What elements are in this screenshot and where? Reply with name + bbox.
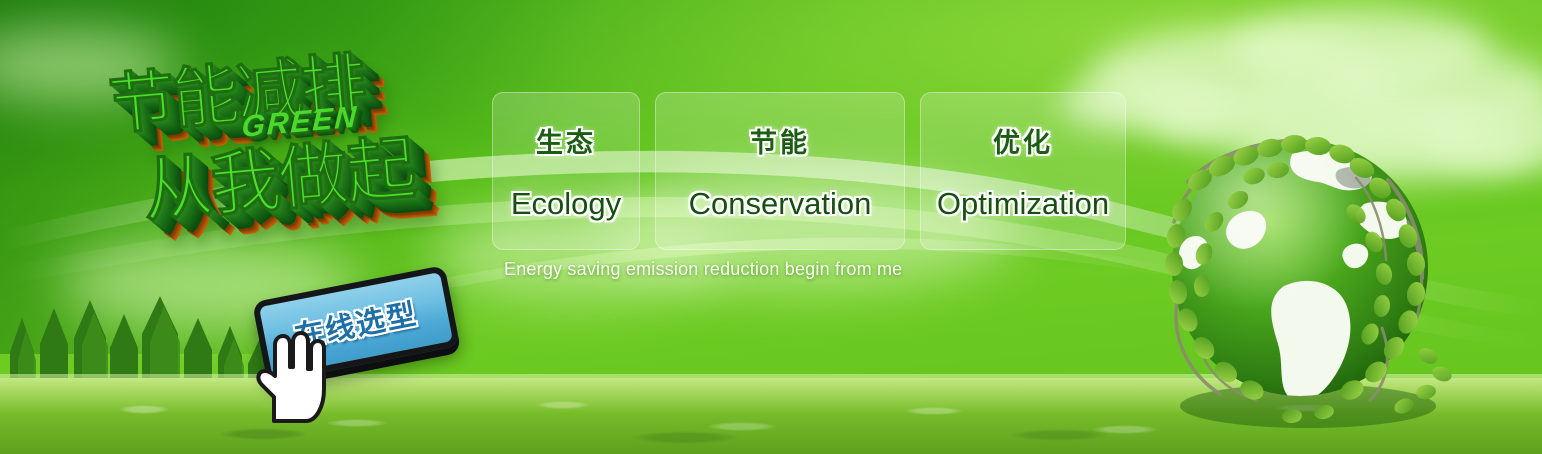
card-title-en: Conservation xyxy=(689,186,872,222)
card-title-cn: 生态 xyxy=(536,121,596,160)
tagline: Energy saving emission reduction begin f… xyxy=(504,259,902,280)
eco-promo-banner: 节能减排 GREEN 从我做起 在线选型 生态 Ecology 节能 Conse… xyxy=(0,0,1542,454)
feature-card-optimization[interactable]: 优化 Optimization xyxy=(920,92,1126,250)
feature-card-ecology[interactable]: 生态 Ecology xyxy=(492,92,640,250)
card-title-en: Ecology xyxy=(511,186,621,222)
leafy-green-globe-icon xyxy=(1142,118,1462,438)
card-title-en: Optimization xyxy=(937,186,1109,222)
headline-3d: 节能减排 GREEN 从我做起 xyxy=(87,19,506,283)
feature-cards: 生态 Ecology 节能 Conservation 优化 Optimizati… xyxy=(492,92,1126,250)
card-title-cn: 优化 xyxy=(993,121,1053,160)
card-title-cn: 节能 xyxy=(750,121,810,160)
pointing-hand-cursor-icon xyxy=(244,327,328,423)
feature-card-conservation[interactable]: 节能 Conservation xyxy=(655,92,905,250)
